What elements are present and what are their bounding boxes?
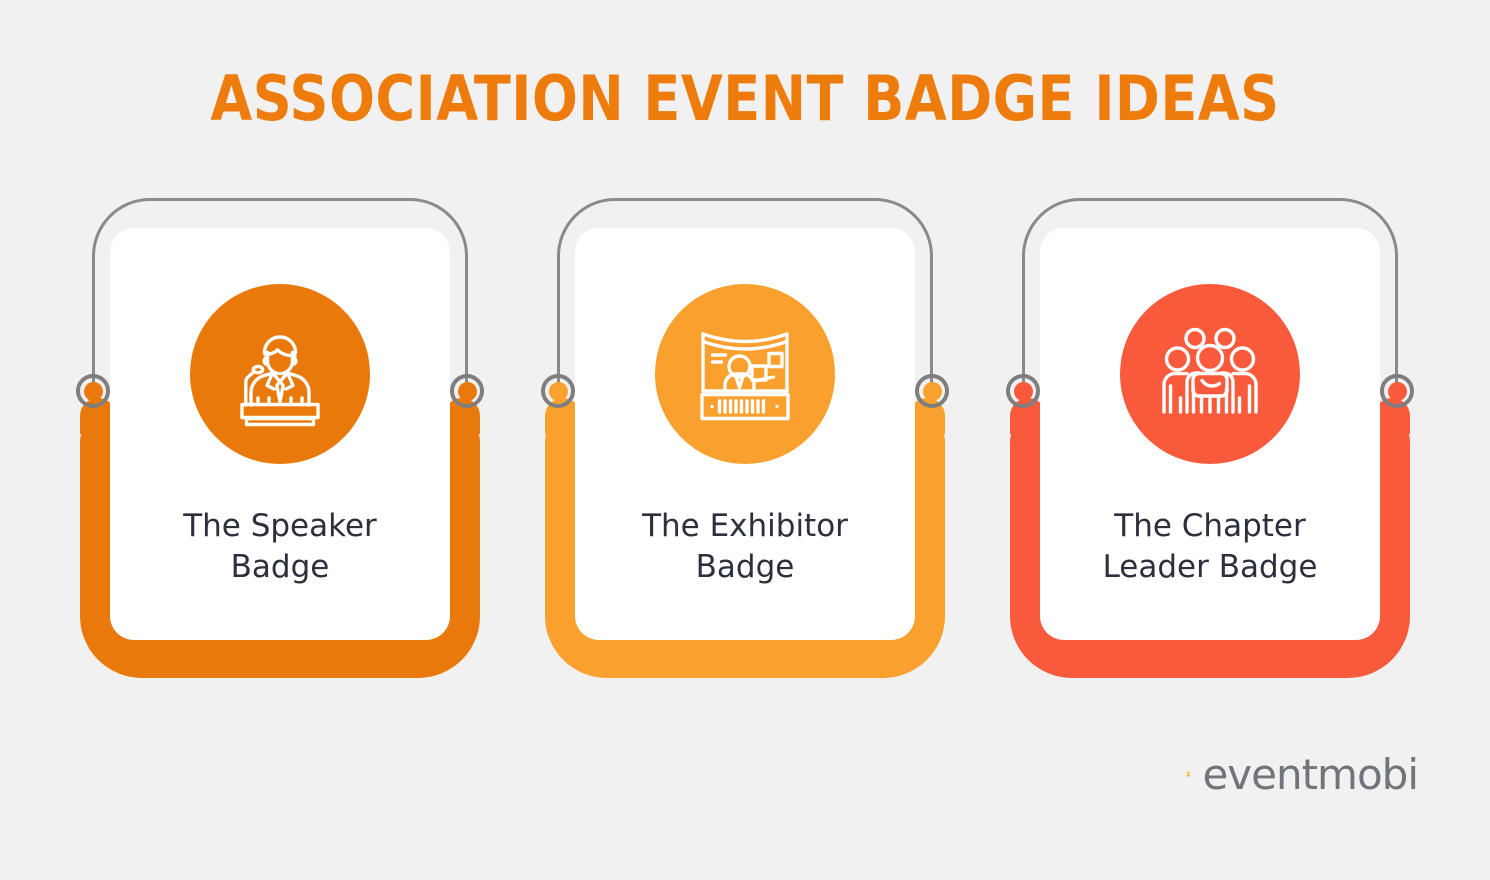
badge-card-label: The Speaker Badge: [130, 506, 430, 588]
badge-label-line-1: The Speaker: [183, 508, 377, 544]
badge-card-label: The Chapter Leader Badge: [1060, 506, 1360, 588]
lanyard-clip-left: [1006, 374, 1040, 408]
badge-card-label: The Exhibitor Badge: [595, 506, 895, 588]
badge-item-speaker[interactable]: The Speaker Badge: [80, 198, 480, 688]
eventmobi-logo[interactable]: eventmobi: [1186, 738, 1418, 810]
lanyard-clip-dot: [923, 382, 942, 401]
infographic-canvas: ASSOCIATION EVENT BADGE IDEAS: [0, 0, 1490, 880]
badge-label-line-1: The Chapter: [1114, 508, 1305, 544]
exhibitor-booth-icon: [685, 314, 805, 434]
badge-icon-circle: [655, 284, 835, 464]
page-title: ASSOCIATION EVENT BADGE IDEAS: [22, 62, 1467, 135]
badge-label-line-2: Badge: [696, 549, 795, 585]
badge-label-line-1: The Exhibitor: [642, 508, 848, 544]
lanyard-clip-right: [1380, 374, 1414, 408]
lanyard-clip-right: [915, 374, 949, 408]
badge-icon-circle: [1120, 284, 1300, 464]
badge-item-exhibitor[interactable]: The Exhibitor Badge: [545, 198, 945, 688]
badge-card[interactable]: The Speaker Badge: [110, 228, 450, 640]
badge-card-list: The Speaker Badge: [0, 198, 1490, 688]
lanyard-clip-right: [450, 374, 484, 408]
lanyard-clip-dot: [84, 382, 103, 401]
people-group-icon: [1150, 314, 1270, 434]
lanyard-clip-left: [76, 374, 110, 408]
logo-wordmark: eventmobi: [1202, 754, 1418, 796]
badge-label-line-2: Badge: [231, 549, 330, 585]
speaker-podium-icon: [220, 314, 340, 434]
lanyard-clip-dot: [1388, 382, 1407, 401]
lanyard-clip-left: [541, 374, 575, 408]
badge-card[interactable]: The Chapter Leader Badge: [1040, 228, 1380, 640]
lanyard-clip-dot: [458, 382, 477, 401]
badge-icon-circle: [190, 284, 370, 464]
badge-card[interactable]: The Exhibitor Badge: [575, 228, 915, 640]
badge-item-chapter-leader[interactable]: The Chapter Leader Badge: [1010, 198, 1410, 688]
eventmobi-logo-mark: [1186, 742, 1190, 806]
lanyard-clip-dot: [549, 382, 568, 401]
lanyard-clip-dot: [1014, 382, 1033, 401]
badge-label-line-2: Leader Badge: [1103, 549, 1318, 585]
